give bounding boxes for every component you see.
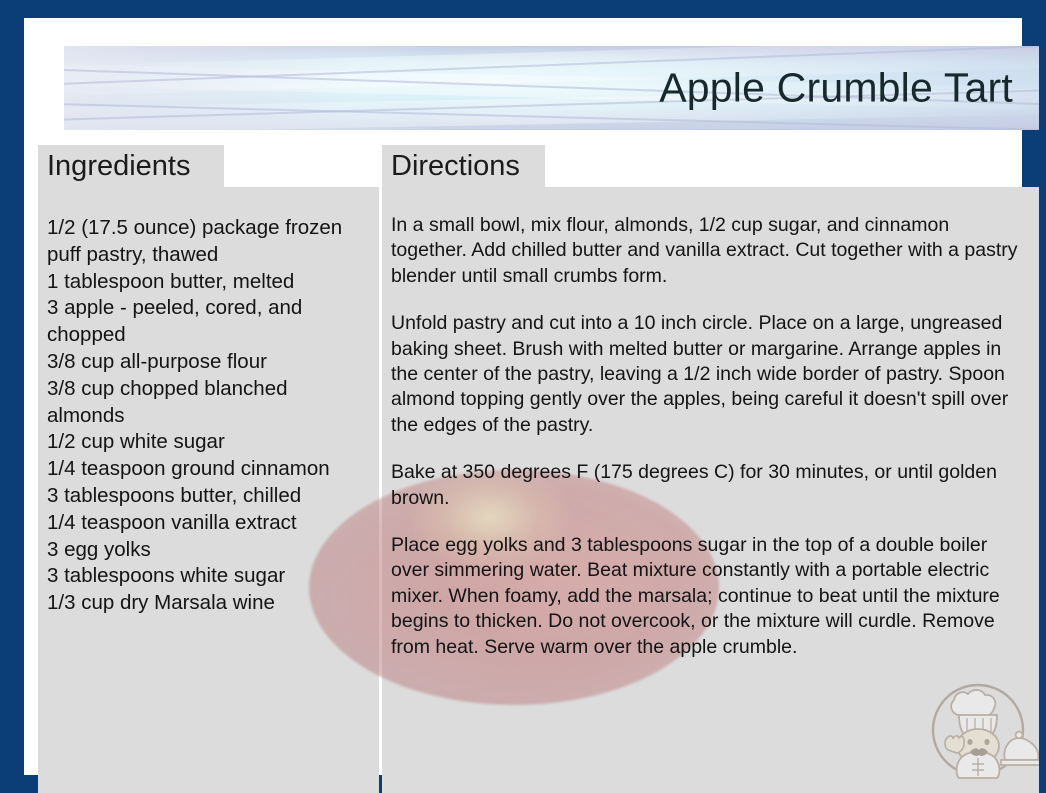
directions-panel: In a small bowl, mix flour, almonds, 1/2…	[382, 187, 1039, 793]
ingredient-line: 1/4 teaspoon ground cinnamon	[47, 456, 367, 483]
ingredient-line: chopped	[47, 322, 367, 349]
ingredient-line: 3 tablespoons butter, chilled	[47, 483, 367, 510]
directions-list: In a small bowl, mix flour, almonds, 1/2…	[391, 213, 1025, 660]
recipe-title: Apple Crumble Tart	[659, 65, 1013, 112]
ingredient-line: 1/3 cup dry Marsala wine	[47, 590, 367, 617]
ingredient-line: 1 tablespoon butter, melted	[47, 269, 367, 296]
recipe-card-frame: Apple Crumble Tart Ingredients 1/2 (17.5…	[0, 0, 1046, 792]
recipe-card-inner: Apple Crumble Tart Ingredients 1/2 (17.5…	[24, 18, 1022, 775]
ingredient-line: 1/2 cup white sugar	[47, 429, 367, 456]
ingredient-line: puff pastry, thawed	[47, 242, 367, 269]
direction-paragraph: Bake at 350 degrees F (175 degrees C) fo…	[391, 460, 1025, 511]
ingredients-heading: Ingredients	[38, 145, 224, 187]
direction-paragraph: Unfold pastry and cut into a 10 inch cir…	[391, 311, 1025, 438]
ingredient-line: 3 egg yolks	[47, 537, 367, 564]
ingredient-line: 3 apple - peeled, cored, and	[47, 295, 367, 322]
ingredient-line: almonds	[47, 403, 367, 430]
direction-paragraph: In a small bowl, mix flour, almonds, 1/2…	[391, 213, 1025, 289]
direction-paragraph: Place egg yolks and 3 tablespoons sugar …	[391, 533, 1025, 660]
ingredient-line: 3 tablespoons white sugar	[47, 563, 367, 590]
directions-heading: Directions	[382, 145, 545, 187]
ingredient-line: 3/8 cup all-purpose flour	[47, 349, 367, 376]
ingredient-line: 3/8 cup chopped blanched	[47, 376, 367, 403]
ingredients-panel: 1/2 (17.5 ounce) package frozenpuff past…	[38, 187, 379, 793]
ingredients-list: 1/2 (17.5 ounce) package frozenpuff past…	[47, 215, 367, 617]
header-banner: Apple Crumble Tart	[64, 46, 1039, 130]
ingredient-line: 1/2 (17.5 ounce) package frozen	[47, 215, 367, 242]
ingredient-line: 1/4 teaspoon vanilla extract	[47, 510, 367, 537]
